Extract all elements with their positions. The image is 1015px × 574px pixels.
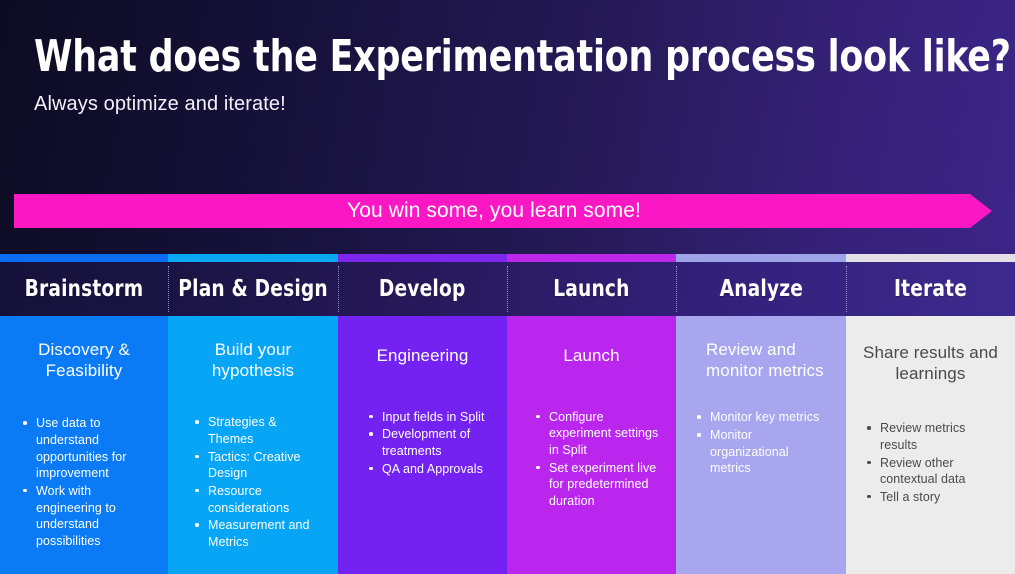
stage-column-brainstorm: BrainstormDiscovery & FeasibilityUse dat… — [0, 254, 168, 574]
stage-header-label: Analyze — [719, 276, 802, 302]
stage-column-develop: DevelopEngineeringInput fields in SplitD… — [338, 254, 507, 574]
stage-header-label: Iterate — [894, 276, 967, 302]
stage-body-develop: EngineeringInput fields in SplitDevelopm… — [338, 316, 507, 574]
stage-body-brainstorm: Discovery & FeasibilityUse data to under… — [0, 316, 168, 574]
list-item: Strategies & Themes — [192, 414, 324, 447]
stage-bullet-list: Monitor key metricsMonitor organizationa… — [690, 409, 832, 477]
list-item: Review metrics results — [864, 420, 1001, 453]
stage-accent-strip-launch — [507, 254, 676, 262]
stage-header-label: Plan & Design — [178, 276, 328, 302]
stage-accent-strip-iterate — [846, 254, 1015, 262]
stage-header-develop: Develop — [338, 262, 507, 316]
list-item: Set experiment live for predetermined du… — [533, 460, 662, 510]
stage-body-iterate: Share results and learningsReview metric… — [846, 316, 1015, 574]
stage-accent-strip-analyze — [676, 254, 846, 262]
stage-bullet-list: Strategies & ThemesTactics: Creative Des… — [182, 414, 324, 550]
stage-bullet-list: Input fields in SplitDevelopment of trea… — [352, 409, 493, 478]
stage-header-analyze: Analyze — [676, 262, 846, 316]
callout-banner-label: You win some, you learn some! — [347, 199, 659, 223]
stage-bullet-list: Review metrics resultsReview other conte… — [860, 420, 1001, 505]
stage-body-plan-and-design: Build your hypothesisStrategies & Themes… — [168, 316, 338, 574]
stage-body-analyze: Review and monitor metricsMonitor key me… — [676, 316, 846, 574]
list-item: QA and Approvals — [366, 461, 493, 478]
stage-heading: Share results and learnings — [860, 316, 1001, 384]
list-item: Resource considerations — [192, 483, 324, 516]
stage-accent-strip-develop — [338, 254, 507, 262]
stage-header-brainstorm: Brainstorm — [0, 262, 168, 316]
stage-bullet-list: Configure experiment settings in SplitSe… — [521, 409, 662, 510]
stage-accent-strip-plan-and-design — [168, 254, 338, 262]
stage-heading: Build your hypothesis — [182, 316, 324, 381]
list-item: Monitor key metrics — [694, 409, 832, 426]
list-item: Measurement and Metrics — [192, 517, 324, 550]
stage-header-label: Develop — [379, 276, 466, 302]
stage-column-plan-and-design: Plan & DesignBuild your hypothesisStrate… — [168, 254, 338, 574]
list-item: Input fields in Split — [366, 409, 493, 426]
page-title: What does the Experimentation process lo… — [34, 34, 844, 80]
stage-heading: Launch — [521, 316, 662, 367]
stage-column-iterate: IterateShare results and learningsReview… — [846, 254, 1015, 574]
slide-canvas: What does the Experimentation process lo… — [0, 0, 1015, 574]
stage-heading: Engineering — [352, 316, 493, 367]
list-item: Review other contextual data — [864, 455, 1001, 488]
stage-header-plan-and-design: Plan & Design — [168, 262, 338, 316]
stage-header-launch: Launch — [507, 262, 676, 316]
list-item: Tell a story — [864, 489, 1001, 506]
stage-accent-strip-brainstorm — [0, 254, 168, 262]
process-stage-columns: BrainstormDiscovery & FeasibilityUse dat… — [0, 254, 1015, 574]
stage-column-analyze: AnalyzeReview and monitor metricsMonitor… — [676, 254, 846, 574]
list-item: Configure experiment settings in Split — [533, 409, 662, 459]
page-subtitle: Always optimize and iterate! — [34, 93, 286, 116]
list-item: Tactics: Creative Design — [192, 449, 324, 482]
stage-header-label: Brainstorm — [25, 276, 144, 302]
list-item: Use data to understand opportunities for… — [20, 415, 154, 482]
list-item: Development of treatments — [366, 426, 493, 459]
stage-column-launch: LaunchLaunchConfigure experiment setting… — [507, 254, 676, 574]
stage-header-label: Launch — [553, 276, 629, 302]
stage-bullet-list: Use data to understand opportunities for… — [14, 415, 154, 549]
callout-arrow-banner: You win some, you learn some! — [14, 194, 992, 228]
list-item: Monitor organizational metrics — [694, 427, 832, 477]
stage-body-launch: LaunchConfigure experiment settings in S… — [507, 316, 676, 574]
stage-heading: Discovery & Feasibility — [14, 316, 154, 381]
stage-header-iterate: Iterate — [846, 262, 1015, 316]
stage-heading: Review and monitor metrics — [690, 316, 832, 381]
list-item: Work with engineering to understand poss… — [20, 483, 154, 550]
